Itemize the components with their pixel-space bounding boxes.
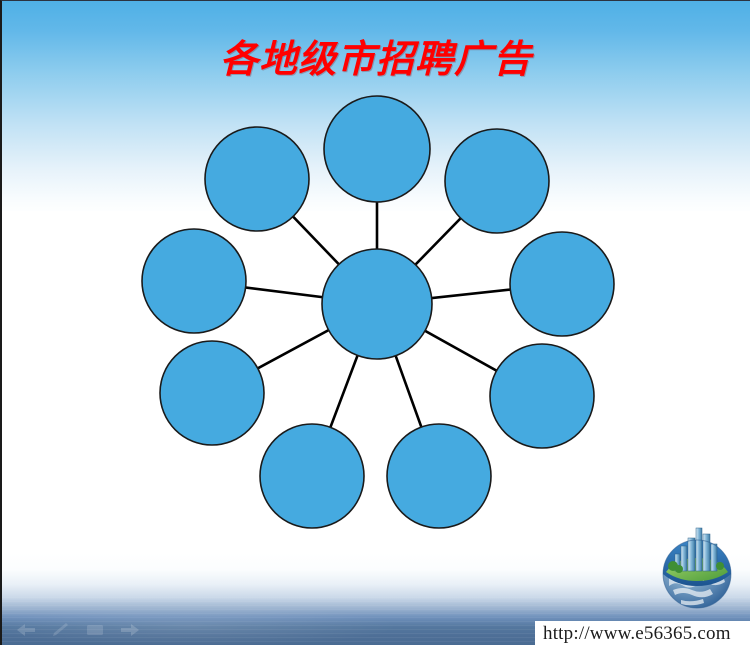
- node-circle-top-left[interactable]: [205, 127, 309, 231]
- watermark-url-text: http://www.e56365.com: [543, 623, 731, 645]
- node-circle-bottom-left[interactable]: [260, 424, 364, 528]
- menu-square-icon[interactable]: [86, 623, 104, 637]
- node-circle-left-lower[interactable]: [160, 341, 264, 445]
- node-circle-bottom-right[interactable]: [490, 344, 594, 448]
- presentation-slide: 各地级市招聘广告: [0, 0, 750, 645]
- globe-city-logo: [647, 516, 747, 611]
- presentation-nav-controls[interactable]: [16, 623, 140, 637]
- node-circle-top-right[interactable]: [445, 129, 549, 233]
- node-circle-right[interactable]: [510, 232, 614, 336]
- node-circle-center[interactable]: [322, 249, 432, 359]
- next-arrow-icon[interactable]: [120, 623, 140, 637]
- node-circle-top[interactable]: [324, 96, 430, 202]
- previous-arrow-icon[interactable]: [16, 623, 36, 637]
- pen-icon[interactable]: [52, 623, 70, 637]
- node-circle-bottom[interactable]: [387, 424, 491, 528]
- node-circle-left[interactable]: [142, 229, 246, 333]
- hub-and-spoke-diagram: [2, 1, 750, 645]
- watermark-url-box: http://www.e56365.com: [535, 621, 750, 645]
